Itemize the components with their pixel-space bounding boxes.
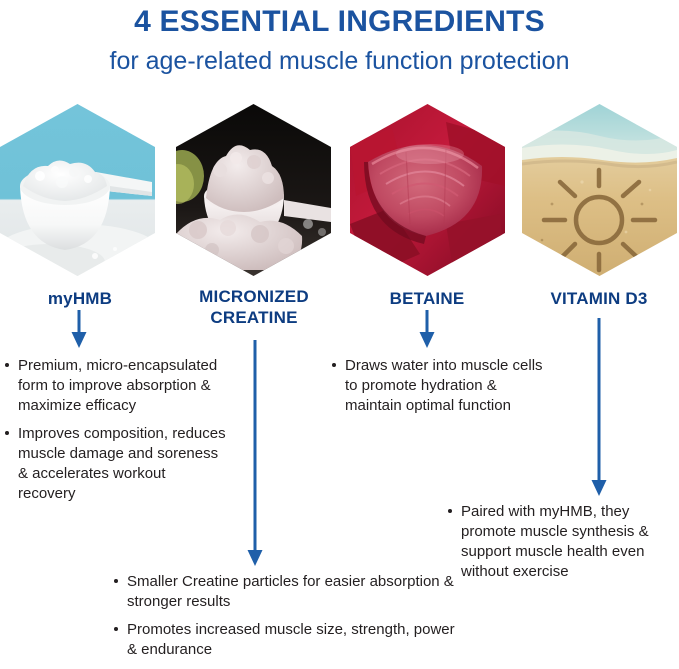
- bullet-dot-icon: [332, 363, 336, 367]
- bullet-text: Draws water into muscle cells to promote…: [345, 357, 543, 414]
- header: 4 ESSENTIAL INGREDIENTS for age-related …: [0, 0, 679, 78]
- bullet-dot-icon: [5, 431, 9, 435]
- bullet-text: Paired with myHMB, they promote muscle s…: [461, 503, 649, 580]
- arrow-down-creatine: [244, 340, 266, 566]
- arrow-down-vitamin-d3: [588, 318, 610, 496]
- bullet-list-micronized-creatine: Smaller Creatine particles for easier ab…: [113, 572, 463, 660]
- hex-image-betaine: [350, 104, 505, 276]
- ingredient-label-vitamin-d3: VITAMIN D3: [518, 288, 679, 309]
- ingredient-label-betaine: BETAINE: [348, 288, 506, 309]
- bullet-dot-icon: [5, 363, 9, 367]
- sun-drawn-in-beach-sand-photo: [522, 104, 677, 276]
- page-subtitle: for age-related muscle function protecti…: [0, 44, 679, 78]
- list-item: Paired with myHMB, they promote muscle s…: [447, 502, 679, 582]
- bullet-text: Premium, micro-encapsulated form to impr…: [18, 357, 217, 414]
- bullet-text: Smaller Creatine particles for easier ab…: [127, 573, 454, 610]
- creatine-scoop-powder-photo: [176, 104, 331, 276]
- bullet-text: Improves composition, reduces muscle dam…: [18, 425, 226, 502]
- bullet-list-myhmb: Premium, micro-encapsulated form to impr…: [4, 356, 226, 504]
- bullet-list-vitamin-d3: Paired with myHMB, they promote muscle s…: [447, 502, 679, 582]
- hex-image-micronized-creatine: [176, 104, 331, 276]
- sliced-beets-photo: [350, 104, 505, 276]
- page-title: 4 ESSENTIAL INGREDIENTS: [0, 4, 679, 40]
- ingredient-label-myhmb: myHMB: [0, 288, 160, 309]
- list-item: Draws water into muscle cells to promote…: [331, 356, 553, 416]
- bullet-list-betaine: Draws water into muscle cells to promote…: [331, 356, 553, 416]
- list-item: Promotes increased muscle size, strength…: [113, 620, 463, 660]
- bullet-dot-icon: [114, 579, 118, 583]
- ingredient-label-micronized-creatine: MICRONIZED CREATINE: [172, 286, 336, 328]
- list-item: Improves composition, reduces muscle dam…: [4, 424, 226, 504]
- list-item: Premium, micro-encapsulated form to impr…: [4, 356, 226, 416]
- list-item: Smaller Creatine particles for easier ab…: [113, 572, 463, 612]
- bullet-dot-icon: [114, 627, 118, 631]
- ingredient-image-row: [0, 104, 679, 276]
- white-scoop-powder-photo: [0, 104, 155, 276]
- bullet-dot-icon: [448, 509, 452, 513]
- bullet-text: Promotes increased muscle size, strength…: [127, 621, 455, 658]
- hex-image-vitamin-d3: [522, 104, 677, 276]
- arrow-down-myhmb: [68, 310, 90, 348]
- arrow-down-betaine: [416, 310, 438, 348]
- hex-image-myhmb: [0, 104, 155, 276]
